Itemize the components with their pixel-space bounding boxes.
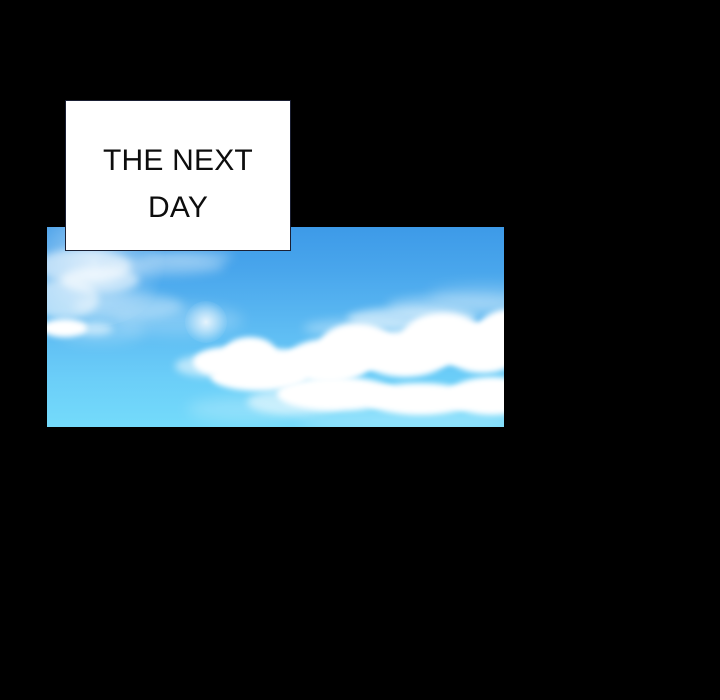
cloud-puff (77, 323, 113, 335)
caption-box: THE NEXT DAY (65, 100, 291, 251)
cloud-puff (187, 397, 307, 421)
sky-background-panel (47, 227, 504, 427)
cloud-puff (297, 407, 504, 427)
cloud-puff (303, 319, 413, 337)
caption-text: THE NEXT DAY (66, 138, 290, 231)
comic-page: THE NEXT DAY (0, 0, 720, 700)
cloud-puff (143, 251, 233, 263)
